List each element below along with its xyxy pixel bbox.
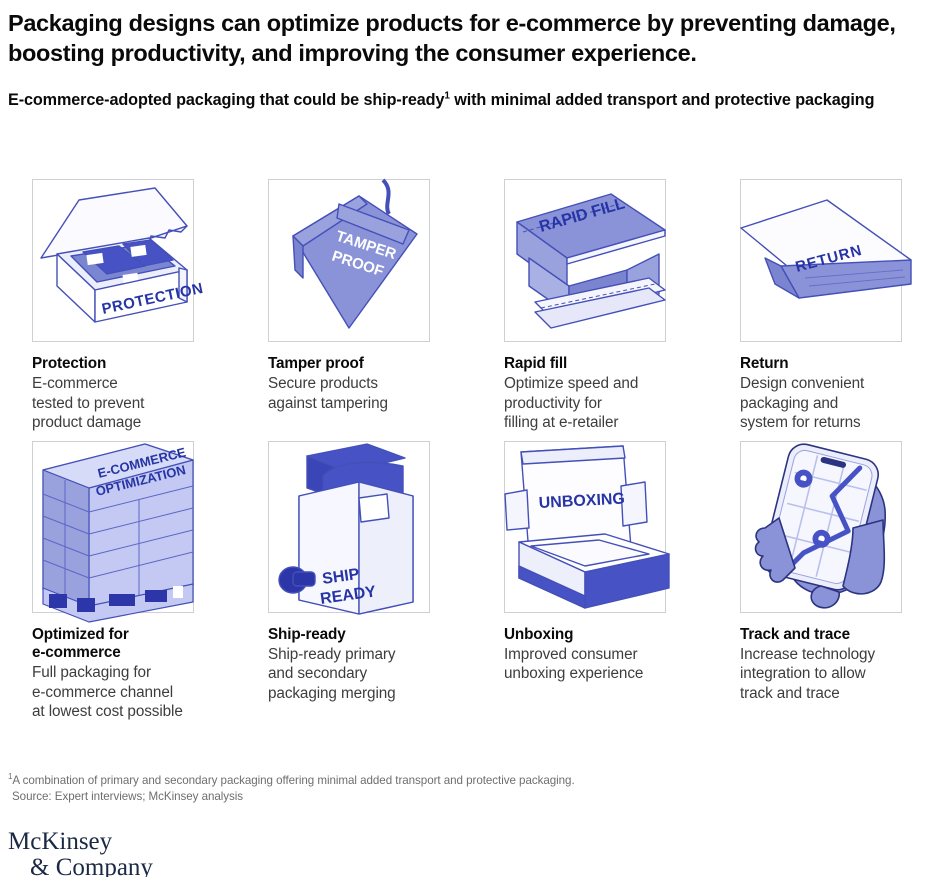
card-title: Protection	[32, 355, 237, 373]
card-body: E-commerce tested to prevent product dam…	[32, 374, 237, 432]
subtitle-text-post: with minimal added transport and protect…	[450, 91, 875, 109]
card-track-and-trace: Track and trace Increase technology inte…	[740, 441, 950, 722]
logo-line-1: McKinsey	[8, 829, 153, 855]
card-body: Full packaging for e-commerce channel at…	[32, 663, 237, 721]
card-title: Return	[740, 355, 945, 373]
illustration-frame: TAMPER PROOF	[268, 179, 430, 342]
card-title: Rapid fill	[504, 355, 709, 373]
illustration-frame: UNBOXING	[504, 441, 666, 613]
phone-map-tracking-illustration	[735, 436, 913, 622]
packaging-card-grid: PROTECTION Protection E-commerce tested …	[32, 179, 922, 722]
illustration-frame: RETURN	[740, 179, 902, 342]
footnote-text: A combination of primary and secondary p…	[12, 774, 574, 787]
card-body: Increase technology integration to allow…	[740, 645, 945, 703]
card-protection: PROTECTION Protection E-commerce tested …	[32, 179, 268, 433]
tamper-proof-mailer-illustration: TAMPER PROOF	[263, 174, 441, 352]
footer-notes: 1A combination of primary and secondary …	[8, 773, 928, 806]
mckinsey-logo: McKinsey & Company	[8, 829, 153, 877]
logo-line-2: & Company	[30, 855, 153, 877]
illustration-frame: PROTECTION	[32, 179, 194, 342]
card-caption: Ship-ready Ship-ready primary and second…	[268, 626, 473, 704]
card-caption: Protection E-commerce tested to prevent …	[32, 355, 237, 433]
card-caption: Track and trace Increase technology inte…	[740, 626, 945, 704]
rapid-fill-box-illustration: RAPID FILL	[499, 174, 677, 352]
card-body: Secure products against tampering	[268, 374, 473, 413]
page-title: Packaging designs can optimize products …	[8, 9, 908, 68]
card-body: Improved consumer unboxing experience	[504, 645, 709, 684]
card-body: Optimize speed and productivity for fill…	[504, 374, 709, 432]
illustration-frame	[740, 441, 902, 613]
protection-box-illustration: PROTECTION	[27, 174, 205, 352]
source-line: Source: Expert interviews; McKinsey anal…	[12, 789, 928, 805]
illustration-frame: E-COMMERCE OPTIMIZATION	[32, 441, 194, 613]
subtitle-text-pre: E-commerce-adopted packaging that could …	[8, 91, 444, 109]
card-body: Design convenient packaging and system f…	[740, 374, 945, 432]
card-caption: Unboxing Improved consumer unboxing expe…	[504, 626, 709, 684]
card-caption: Tamper proof Secure products against tam…	[268, 355, 473, 413]
card-unboxing: UNBOXING Unboxing Improved consumer unbo…	[504, 441, 740, 722]
illustration-frame: RAPID FILL	[504, 179, 666, 342]
card-caption: Rapid fill Optimize speed and productivi…	[504, 355, 709, 433]
return-mailer-illustration: RETURN	[735, 174, 913, 352]
card-tamper-proof: TAMPER PROOF Tamper proof Secure product…	[268, 179, 504, 433]
card-title: Unboxing	[504, 626, 709, 644]
card-body: Ship-ready primary and secondary packagi…	[268, 645, 473, 703]
unboxing-mailer-illustration: UNBOXING	[499, 436, 677, 622]
infographic-page: Packaging designs can optimize products …	[0, 9, 950, 877]
card-title: Ship-ready	[268, 626, 473, 644]
card-title: Track and trace	[740, 626, 945, 644]
card-title: Optimized for e-commerce	[32, 626, 237, 663]
card-ship-ready: SHIP READY Ship-ready Ship-ready primary…	[268, 441, 504, 722]
card-rapid-fill: RAPID FILL Rapid fill Optimize speed and…	[504, 179, 740, 433]
ship-ready-bag-in-box-illustration: SHIP READY	[263, 436, 441, 622]
card-title: Tamper proof	[268, 355, 473, 373]
page-subtitle: E-commerce-adopted packaging that could …	[8, 90, 888, 111]
card-caption: Return Design convenient packaging and s…	[740, 355, 945, 433]
pallet-stack-illustration: E-COMMERCE OPTIMIZATION	[27, 436, 205, 622]
card-optimized-for-e-commerce: E-COMMERCE OPTIMIZATION Optimized for e-…	[32, 441, 268, 722]
footnote: 1A combination of primary and secondary …	[8, 773, 928, 789]
card-return: RETURN Return Design convenient packagin…	[740, 179, 950, 433]
illustration-frame: SHIP READY	[268, 441, 430, 613]
card-caption: Optimized for e-commerce Full packaging …	[32, 626, 237, 722]
